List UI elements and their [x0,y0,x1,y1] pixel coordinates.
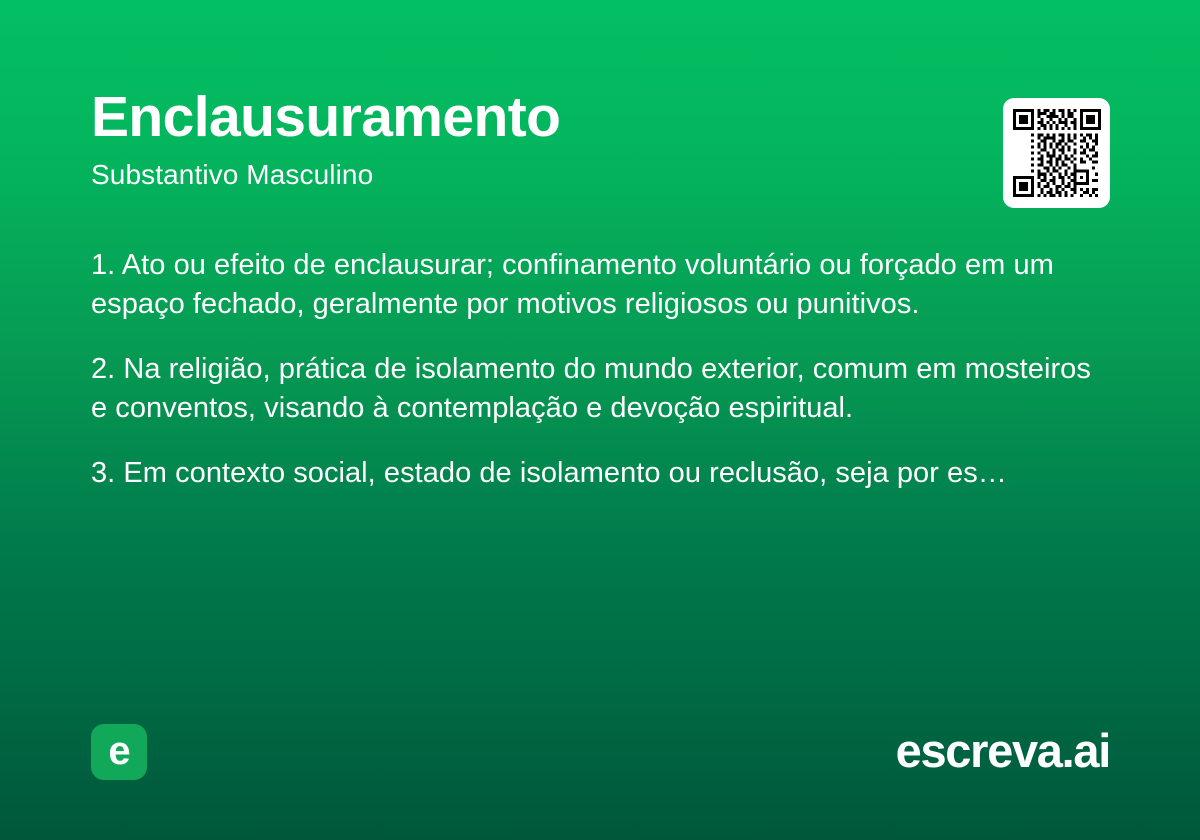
qr-code-icon [1013,109,1101,197]
definitions-list: 1. Ato ou efeito de enclausurar; confina… [91,246,1111,493]
escreva-logo-icon[interactable]: e [91,724,147,780]
word-part-of-speech: Substantivo Masculino [91,158,951,192]
card-footer: e escreva.ai [0,724,1200,782]
definition-item: 2. Na religião, prática de isolamento do… [91,350,1111,428]
logo-letter: e [108,731,129,771]
definition-item: 3. Em contexto social, estado de isolame… [91,454,1111,493]
brand-wordmark: escreva.ai [896,722,1110,781]
word-title: Enclausuramento [91,88,951,146]
card-header: Enclausuramento Substantivo Masculino [91,88,951,192]
qr-code-card[interactable] [1003,98,1110,208]
definition-item: 1. Ato ou efeito de enclausurar; confina… [91,246,1111,324]
dictionary-card: Enclausuramento Substantivo Masculino [0,0,1200,840]
